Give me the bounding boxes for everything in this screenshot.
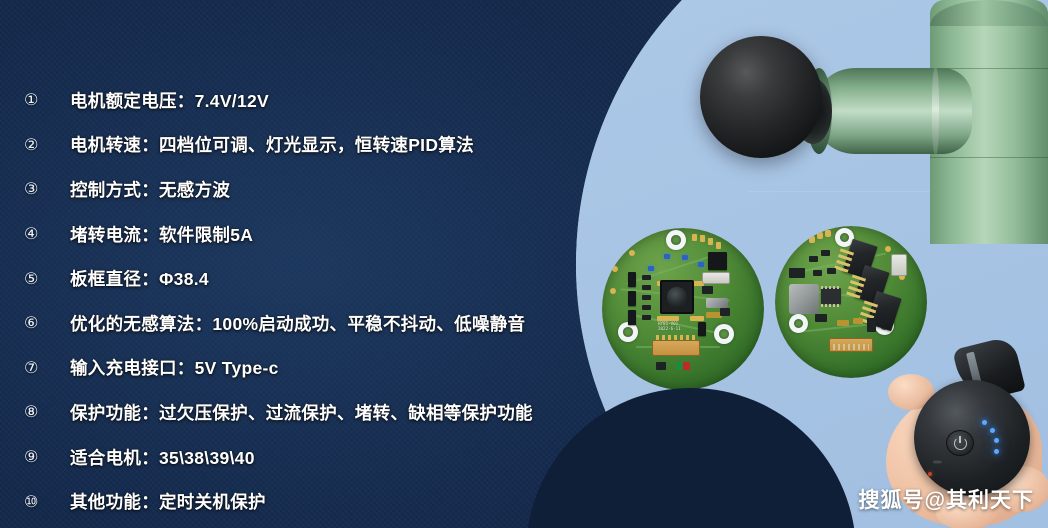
pcb-ic xyxy=(628,272,636,287)
spec-row-5: ⑤ 板框直径：Φ38.4 xyxy=(0,256,580,301)
spec-text-3: 控制方式：无感方波 xyxy=(70,177,230,202)
spec-number-9: ⑨ xyxy=(24,449,70,465)
pcb-pad xyxy=(629,250,635,256)
pcb-mount-hole xyxy=(618,322,638,342)
pcb-resistor xyxy=(656,362,666,370)
pcb-resistor xyxy=(642,285,651,290)
pcb-pad xyxy=(700,235,705,242)
spec-text-1: 电机额定电压：7.4V/12V xyxy=(70,88,269,113)
spec-text-6: 优化的无感算法：100%启动成功、平稳不抖动、低噪静音 xyxy=(70,311,525,336)
massage-gun xyxy=(736,0,1048,244)
pcb-shunt-resistor xyxy=(867,318,876,332)
device-usb-c-port xyxy=(932,460,943,464)
pcb-connector-pins xyxy=(656,335,696,340)
device-led-4 xyxy=(994,449,999,454)
pcb-led-blue xyxy=(648,266,654,271)
pcb-tactile-button xyxy=(660,280,694,314)
spec-row-10: ⑩ 其他功能：定时关机保护 xyxy=(0,479,580,524)
pcb-ic xyxy=(628,291,636,306)
pcb-led-blue xyxy=(682,255,688,260)
device-led-2 xyxy=(990,428,995,433)
pcb-ic xyxy=(628,310,636,325)
pcb-resistor xyxy=(642,305,651,310)
device-power-button[interactable] xyxy=(946,430,974,456)
spec-number-7: ⑦ xyxy=(24,360,70,376)
pcb-ic xyxy=(821,288,841,304)
pcb-led-blue xyxy=(664,254,670,259)
pcb-resistor xyxy=(642,315,651,320)
pcb-led-blue xyxy=(698,262,704,267)
watermark: 搜狐号@其利天下 xyxy=(859,484,1034,514)
pcb-resistor xyxy=(813,270,822,276)
spec-row-1: ① 电机额定电压：7.4V/12V xyxy=(0,78,580,123)
spec-row-2: ② 电机转速：四档位可调、灯光显示，恒转速PID算法 xyxy=(0,123,580,168)
pcb-copper-pad xyxy=(690,316,704,321)
pcb-mount-hole xyxy=(714,324,734,344)
spec-row-9: ⑨ 适合电机：35\38\39\40 xyxy=(0,435,580,480)
spec-number-8: ⑧ xyxy=(24,404,70,420)
device-led-1 xyxy=(982,420,987,425)
pcb-transistor xyxy=(789,268,805,278)
spec-number-3: ③ xyxy=(24,181,70,197)
spec-number-6: ⑥ xyxy=(24,315,70,331)
pcb-ic-small xyxy=(698,322,706,336)
pcb-ic-pins xyxy=(821,304,841,307)
spec-text-2: 电机转速：四档位可调、灯光显示，恒转速PID算法 xyxy=(70,132,474,157)
pcb-ic-pins xyxy=(821,286,841,289)
pcb-resistor xyxy=(642,295,651,300)
spec-row-4: ④ 堵转电流：软件限制5A xyxy=(0,212,580,257)
spec-text-9: 适合电机：35\38\39\40 xyxy=(70,445,255,470)
gun-ball-head xyxy=(700,36,822,158)
pcb-control-board: HY01-V01 2022-6-11 xyxy=(602,228,764,390)
pcb-pad xyxy=(708,238,713,245)
pcb-pad xyxy=(885,246,891,252)
spec-number-2: ② xyxy=(24,137,70,153)
spec-text-4: 堵转电流：软件限制5A xyxy=(70,222,253,247)
pcb-capacitor xyxy=(837,320,849,326)
pcb-mount-hole xyxy=(666,230,686,250)
spec-row-8: ⑧ 保护功能：过欠压保护、过流保护、堵转、缺相等保护功能 xyxy=(0,390,580,435)
pcb-transistor xyxy=(702,286,713,294)
device-led-3 xyxy=(994,438,999,443)
pcb-capacitor xyxy=(853,318,863,324)
pcb-resistor xyxy=(809,256,818,262)
pcb-resistor xyxy=(827,268,836,274)
spec-number-1: ① xyxy=(24,92,70,108)
spec-row-6: ⑥ 优化的无感算法：100%启动成功、平稳不抖动、低噪静音 xyxy=(0,301,580,346)
pcb-resistor-array xyxy=(702,272,730,284)
pcb-pad xyxy=(817,232,823,239)
gun-arm xyxy=(812,68,972,154)
pcb-power-inductor xyxy=(789,284,819,314)
pcb-led-bicolor xyxy=(676,362,690,370)
pcb-inductor xyxy=(706,298,728,308)
gun-seam-lower xyxy=(930,157,1048,158)
pcb-resistor xyxy=(821,250,830,256)
pcb-pad xyxy=(825,230,831,237)
spec-text-5: 板框直径：Φ38.4 xyxy=(70,266,209,291)
spec-number-5: ⑤ xyxy=(24,271,70,287)
spec-text-10: 其他功能：定时关机保护 xyxy=(70,489,266,514)
pcb-power-connector xyxy=(891,254,907,276)
pcb-resistor xyxy=(642,275,651,280)
slide-canvas: HY01-V01 2022-6-11 xyxy=(0,0,1048,528)
pcb-silkscreen-line2: 2022-6-11 xyxy=(658,326,681,331)
pcb-pad xyxy=(612,266,618,272)
pcb-transistor xyxy=(720,308,730,316)
spec-row-7: ⑦ 输入充电接口：5V Type-c xyxy=(0,346,580,391)
spec-text-7: 输入充电接口：5V Type-c xyxy=(70,355,279,380)
pcb-connector-pins xyxy=(833,344,869,350)
spec-row-3: ③ 控制方式：无感方波 xyxy=(0,167,580,212)
pcb-pad xyxy=(692,234,697,241)
spec-number-4: ④ xyxy=(24,226,70,242)
pcb-fpc-connector xyxy=(652,340,700,356)
spec-list: ① 电机额定电压：7.4V/12V ② 电机转速：四档位可调、灯光显示，恒转速P… xyxy=(0,78,580,524)
gun-arm-ring xyxy=(932,68,939,154)
pcb-microcontroller xyxy=(708,252,727,270)
device-charge-indicator xyxy=(928,472,932,476)
pcb-pad xyxy=(809,236,815,243)
spec-number-10: ⑩ xyxy=(24,494,70,510)
spec-text-8: 保护功能：过欠压保护、过流保护、堵转、缺相等保护功能 xyxy=(70,400,533,425)
pcb-pad xyxy=(716,242,721,249)
pcb-mount-hole xyxy=(789,314,808,333)
pcb-pad xyxy=(610,288,616,294)
pcb-resistor xyxy=(815,314,827,322)
